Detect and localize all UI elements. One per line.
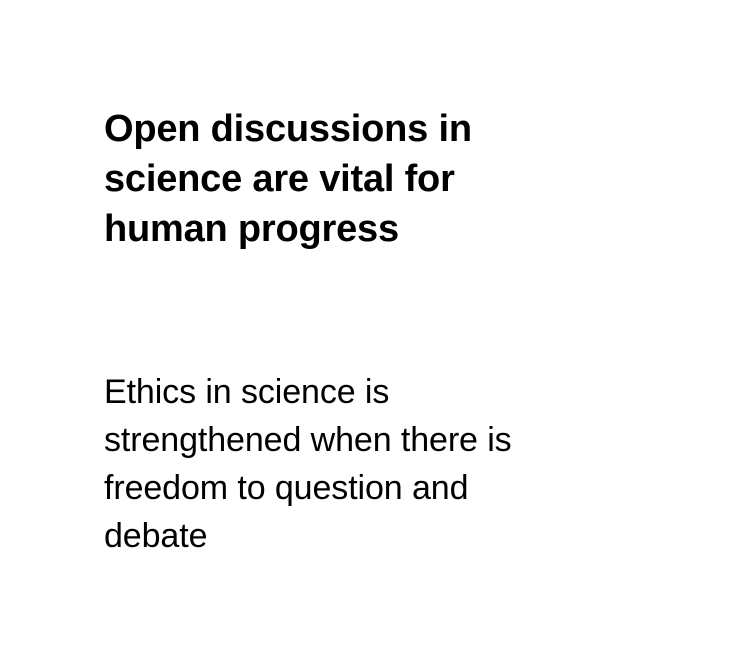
- slide-body-text: Ethics in science is strengthened when t…: [104, 368, 624, 560]
- slide-heading: Open discussions in science are vital fo…: [104, 104, 664, 254]
- body-block: Ethics in science is strengthened when t…: [104, 368, 624, 560]
- slide-canvas: Open discussions in science are vital fo…: [0, 0, 750, 650]
- heading-block: Open discussions in science are vital fo…: [104, 104, 664, 254]
